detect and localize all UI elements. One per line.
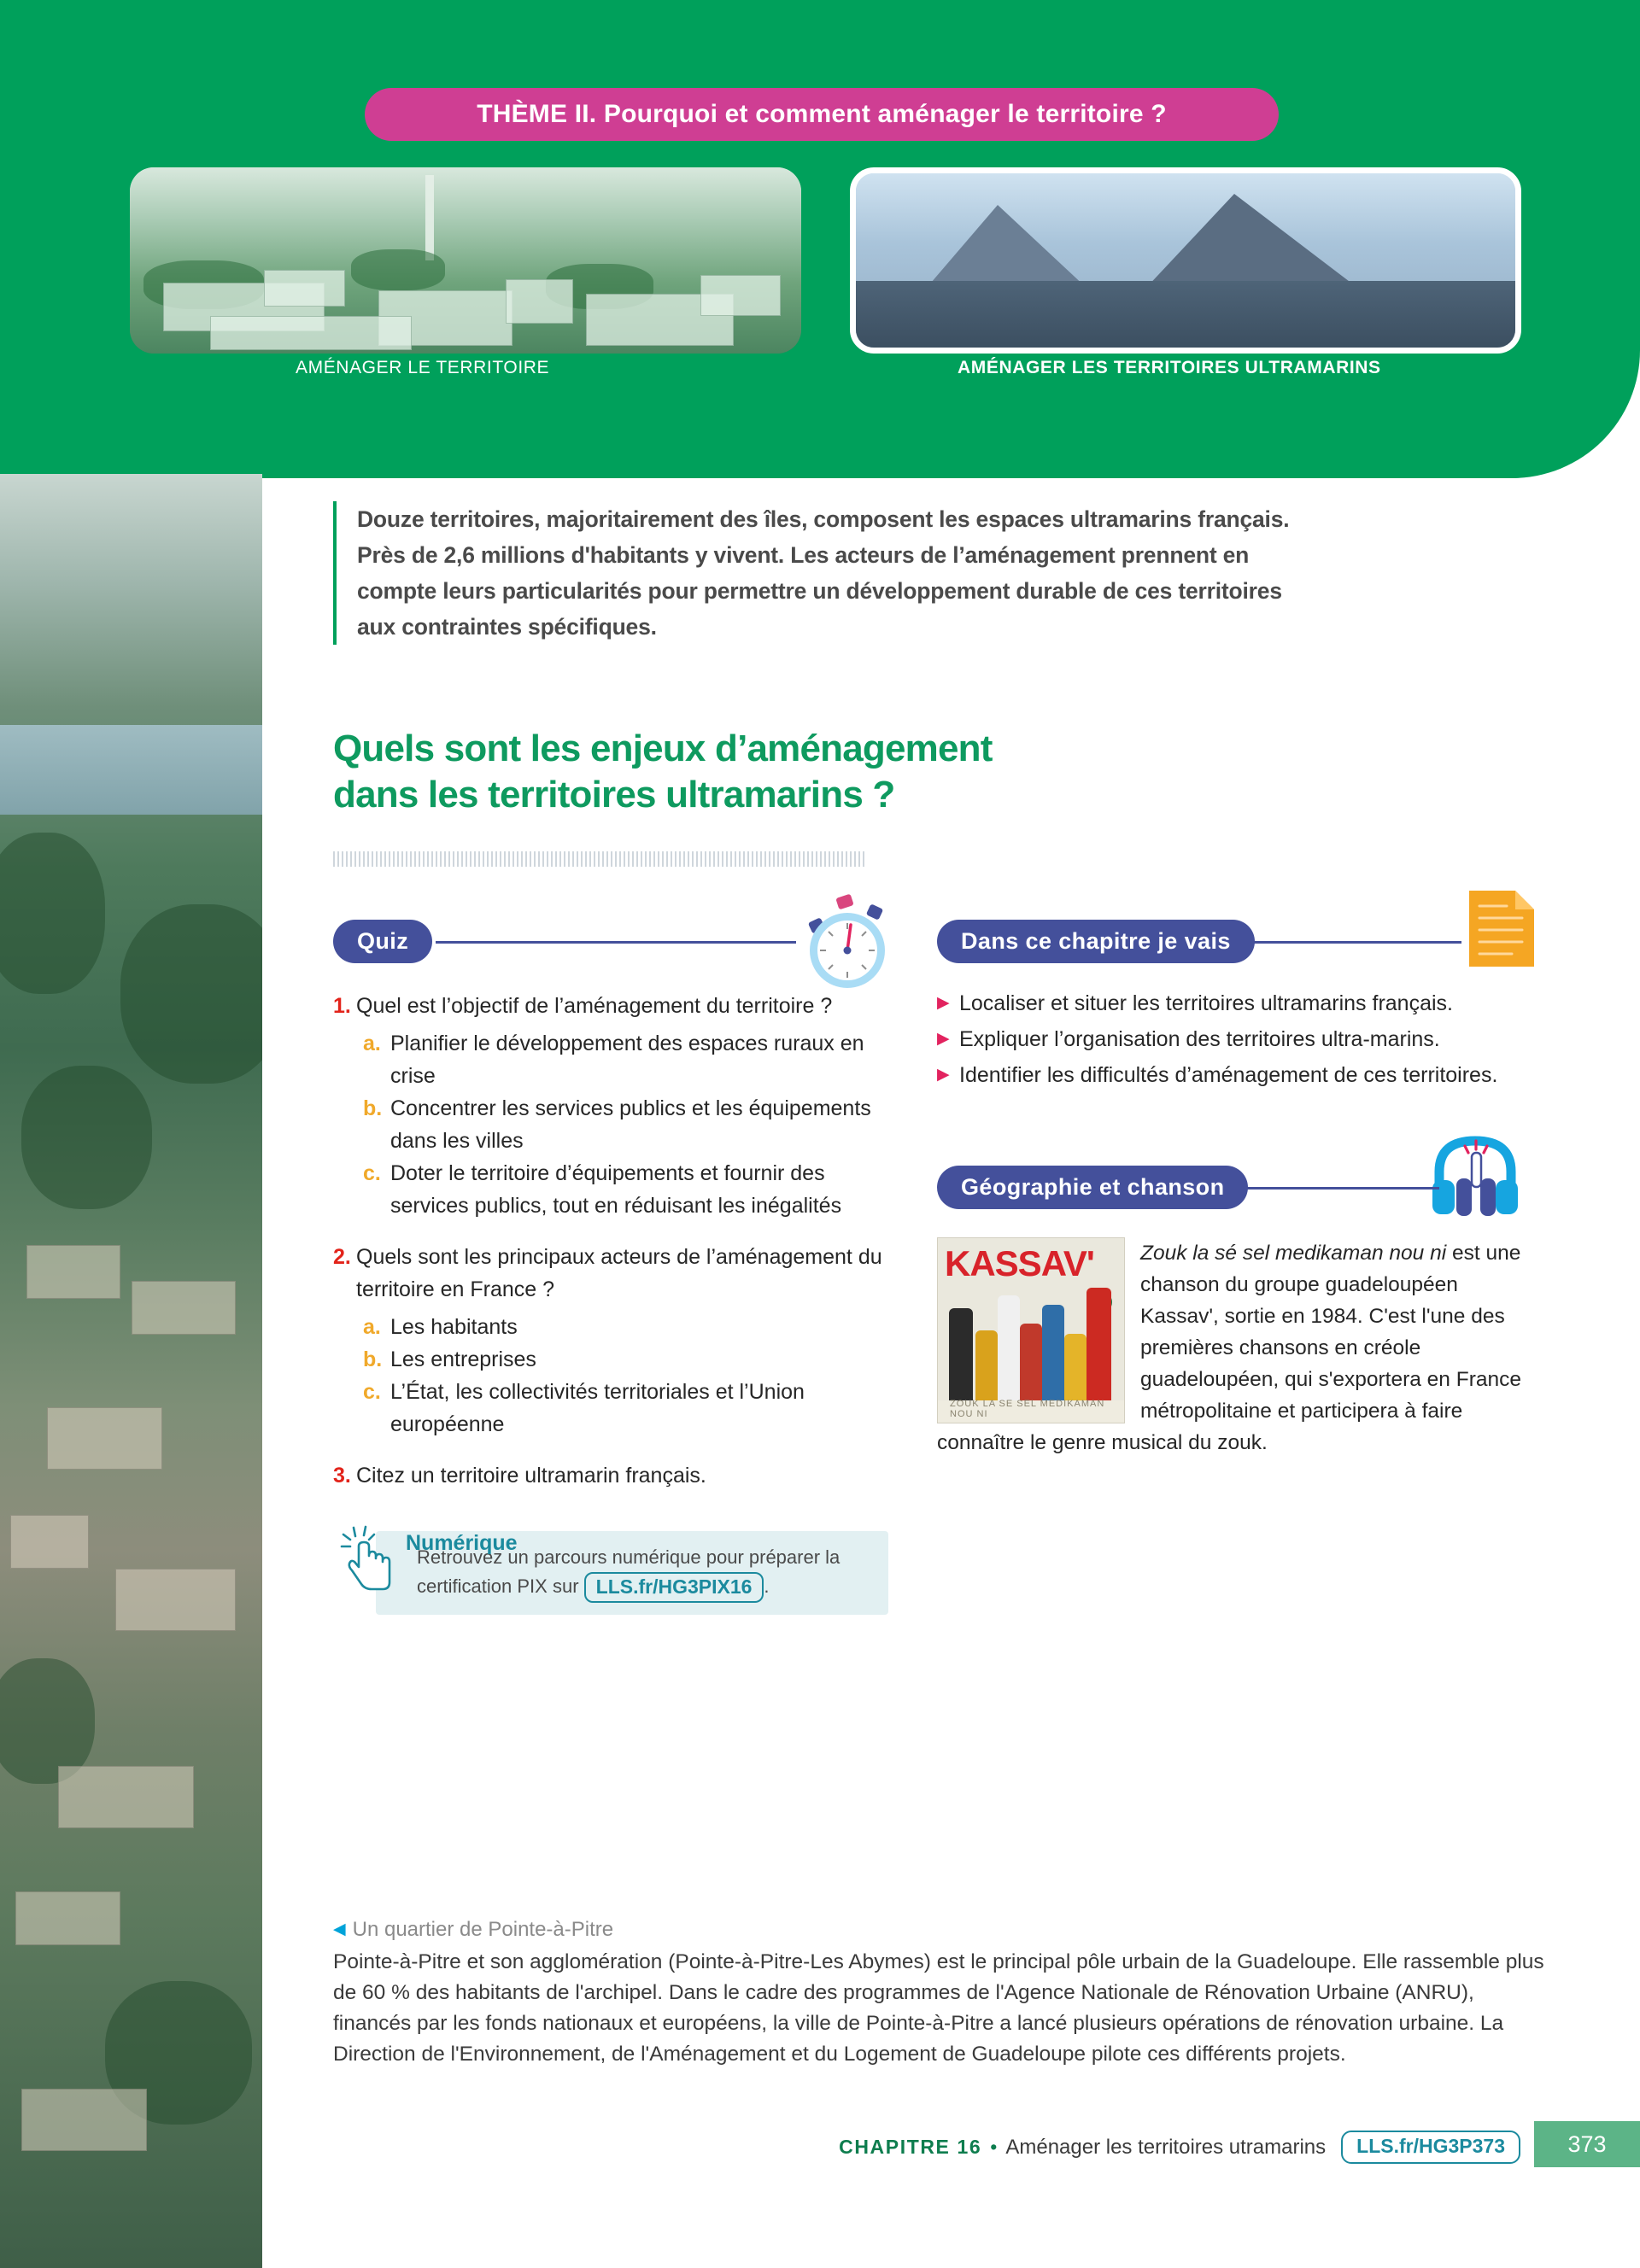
decorative-shape (998, 1295, 1020, 1400)
option-text: Concentrer les services publics et les é… (390, 1092, 897, 1157)
folder-icon (1462, 884, 1539, 973)
numerique-title: Numérique (406, 1531, 518, 1556)
headphones-icon (1426, 1127, 1528, 1221)
caption-body: Pointe-à-Pitre et son agglomération (Poi… (333, 1947, 1550, 2070)
hand-click-icon (340, 1524, 401, 1593)
caption-title: Un quartier de Pointe-à-Pitre (353, 1917, 613, 1943)
decorative-shape (1042, 1305, 1064, 1401)
footer-separator: • (990, 2136, 997, 2159)
chanson-header: Géographie et chanson (937, 1157, 1535, 1219)
option-letter: b. (363, 1092, 390, 1157)
intro-blockquote: Douze territoires, majoritairement des î… (333, 501, 1307, 645)
question-text: Quels sont les principaux acteurs de l’a… (356, 1241, 897, 1306)
chanson-pill: Géographie et chanson (937, 1166, 1248, 1209)
triangle-bullet-icon: ▶ (937, 986, 959, 1020)
decorative-shape (132, 1281, 237, 1335)
chanson-block: Géographie et chanson (937, 1157, 1535, 1458)
chapter-goals-header: Dans ce chapitre je vais (937, 911, 1535, 973)
caption-header: ◀ Un quartier de Pointe-à-Pitre (333, 1917, 1550, 1943)
footer-chapter: CHAPITRE 16 (839, 2136, 981, 2159)
decorative-shape (938, 1272, 1124, 1400)
decorative-shape (210, 316, 412, 349)
quiz-question-list: 1. Quel est l’objectif de l’aménagement … (333, 990, 897, 1492)
connector-line (1240, 1187, 1439, 1190)
question-text: Citez un territoire ultramarin français. (356, 1459, 897, 1492)
theme-banner-label: THÈME II. Pourquoi et comment aménager l… (477, 100, 1167, 129)
quiz-option[interactable]: a. Planifier le développement des espace… (363, 1027, 897, 1092)
quiz-option[interactable]: c. L’État, les collectivités territorial… (363, 1376, 897, 1441)
quiz-option[interactable]: b. Concentrer les services publics et le… (363, 1092, 897, 1157)
bottom-caption: ◀ Un quartier de Pointe-à-Pitre Pointe-à… (333, 1917, 1550, 2070)
quiz-options: a. Planifier le développement des espace… (363, 1027, 897, 1222)
decorative-shape (700, 275, 781, 316)
decorative-shape (0, 725, 262, 815)
chanson-body: KASSAV' ZOUK LA SE SEL MEDIKAMAN NOU NI (937, 1237, 1535, 1458)
decorative-shape (58, 1766, 195, 1829)
quiz-column: Quiz (333, 911, 897, 1615)
theme-banner: THÈME II. Pourquoi et comment aménager l… (365, 88, 1279, 141)
option-text: Les habitants (390, 1311, 897, 1343)
decorative-shape (10, 1515, 89, 1569)
decorative-shape (264, 270, 344, 307)
question-number: 2. (333, 1241, 356, 1306)
album-strip-text: ZOUK LA SE SEL MEDIKAMAN NOU NI (950, 1399, 1124, 1419)
option-letter: c. (363, 1157, 390, 1222)
footer-title: Aménager les territoires utramarins (1005, 2136, 1326, 2160)
thumbnail-amenager-le-territoire[interactable] (130, 167, 801, 354)
decorative-shape (1064, 1334, 1086, 1400)
connector-line (436, 941, 796, 944)
thumbnail-amenager-les-territoires-ultramarins[interactable] (850, 167, 1521, 354)
decorative-shape (21, 1066, 153, 1209)
decorative-shape (949, 1308, 973, 1400)
quiz-question: 3. Citez un territoire ultramarin frança… (333, 1459, 897, 1492)
album-cover-image: KASSAV' ZOUK LA SE SEL MEDIKAMAN NOU NI (937, 1237, 1125, 1423)
decorative-shape (0, 833, 105, 994)
goal-item: ▶ Expliquer l’organisation des territoir… (937, 1022, 1535, 1056)
triangle-bullet-icon: ▶ (937, 1022, 959, 1056)
goal-text: Identifier les difficultés d’aménagement… (959, 1058, 1535, 1092)
goal-text: Localiser et situer les territoires ultr… (959, 986, 1535, 1020)
decorative-shape (506, 279, 573, 324)
option-text: Planifier le développement des espaces r… (390, 1027, 897, 1092)
stopwatch-icon (794, 894, 897, 997)
quiz-pill-label: Quiz (357, 928, 408, 955)
decorative-shape (975, 1330, 998, 1401)
header-green-band: THÈME II. Pourquoi et comment aménager l… (0, 0, 1640, 478)
decorative-shape (1086, 1288, 1110, 1400)
song-title: Zouk la sé sel medikaman nou ni (1140, 1242, 1446, 1265)
numerique-block: Numérique Retrouvez un parcours numériqu… (333, 1531, 897, 1615)
option-letter: a. (363, 1311, 390, 1343)
decorative-shape (1020, 1324, 1042, 1400)
page-footer: CHAPITRE 16 • Aménager les territoires u… (262, 2131, 1640, 2164)
quiz-pill: Quiz (333, 920, 432, 963)
decorative-shape (856, 281, 1515, 348)
goal-text: Expliquer l’organisation des territoires… (959, 1022, 1535, 1056)
decorative-shape (0, 1658, 95, 1784)
decorative-shape (47, 1407, 162, 1470)
decorative-shape (21, 2089, 147, 2152)
main-content: Douze territoires, majoritairement des î… (262, 474, 1640, 2268)
decorative-shape (115, 1569, 236, 1632)
quiz-option[interactable]: a. Les habitants (363, 1311, 897, 1343)
decorative-shape (26, 1245, 121, 1299)
option-letter: a. (363, 1027, 390, 1092)
footer-code-link[interactable]: LLS.fr/HG3P373 (1341, 2131, 1520, 2164)
spacer (333, 1222, 897, 1241)
pix-code-link[interactable]: LLS.fr/HG3PIX16 (584, 1572, 764, 1603)
option-text: L’État, les collectivités territoriales … (390, 1376, 897, 1441)
chapter-goals-pill-label: Dans ce chapitre je vais (961, 928, 1231, 955)
thumbnail-right-caption: AMÉNAGER LES TERRITOIRES ULTRAMARINS (958, 358, 1381, 378)
goal-item: ▶ Identifier les difficultés d’aménageme… (937, 1058, 1535, 1092)
thumbnail-left-caption: AMÉNAGER LE TERRITOIRE (296, 358, 549, 378)
decorative-shape (351, 249, 445, 290)
dotted-divider (333, 851, 865, 867)
option-text: Les entreprises (390, 1343, 897, 1376)
triangle-bullet-icon: ▶ (937, 1058, 959, 1092)
option-letter: b. (363, 1343, 390, 1376)
quiz-section-header: Quiz (333, 911, 897, 973)
side-photo-pointe-a-pitre (0, 474, 262, 2268)
intro-text: Douze territoires, majoritairement des î… (357, 501, 1307, 645)
connector-line (1245, 941, 1461, 944)
right-column: Dans ce chapitre je vais ▶ Localiser et … (937, 911, 1535, 1458)
option-letter: c. (363, 1376, 390, 1441)
option-text: Doter le territoire d’équipements et fou… (390, 1157, 897, 1222)
chapter-goals-list: ▶ Localiser et situer les territoires ul… (937, 986, 1535, 1092)
decorative-shape (425, 175, 434, 260)
question-number: 3. (333, 1459, 356, 1492)
question-number: 1. (333, 990, 356, 1022)
spacer (333, 1441, 897, 1459)
quiz-options: a. Les habitants b. Les entreprises c. L… (363, 1311, 897, 1441)
left-triangle-icon: ◀ (333, 1917, 346, 1943)
quiz-option[interactable]: b. Les entreprises (363, 1343, 897, 1376)
quiz-option[interactable]: c. Doter le territoire d’équipements et … (363, 1157, 897, 1222)
numerique-text-end: . (764, 1575, 769, 1597)
quiz-question: 2. Quels sont les principaux acteurs de … (333, 1241, 897, 1306)
decorative-shape (120, 904, 262, 1084)
page-number-badge: 373 (1534, 2121, 1640, 2167)
decorative-shape (15, 1891, 120, 1945)
chanson-pill-label: Géographie et chanson (961, 1174, 1224, 1201)
page-title: Quels sont les enjeux d’aménagement dans… (333, 726, 1085, 818)
goal-item: ▶ Localiser et situer les territoires ul… (937, 986, 1535, 1020)
chapter-goals-pill: Dans ce chapitre je vais (937, 920, 1255, 963)
